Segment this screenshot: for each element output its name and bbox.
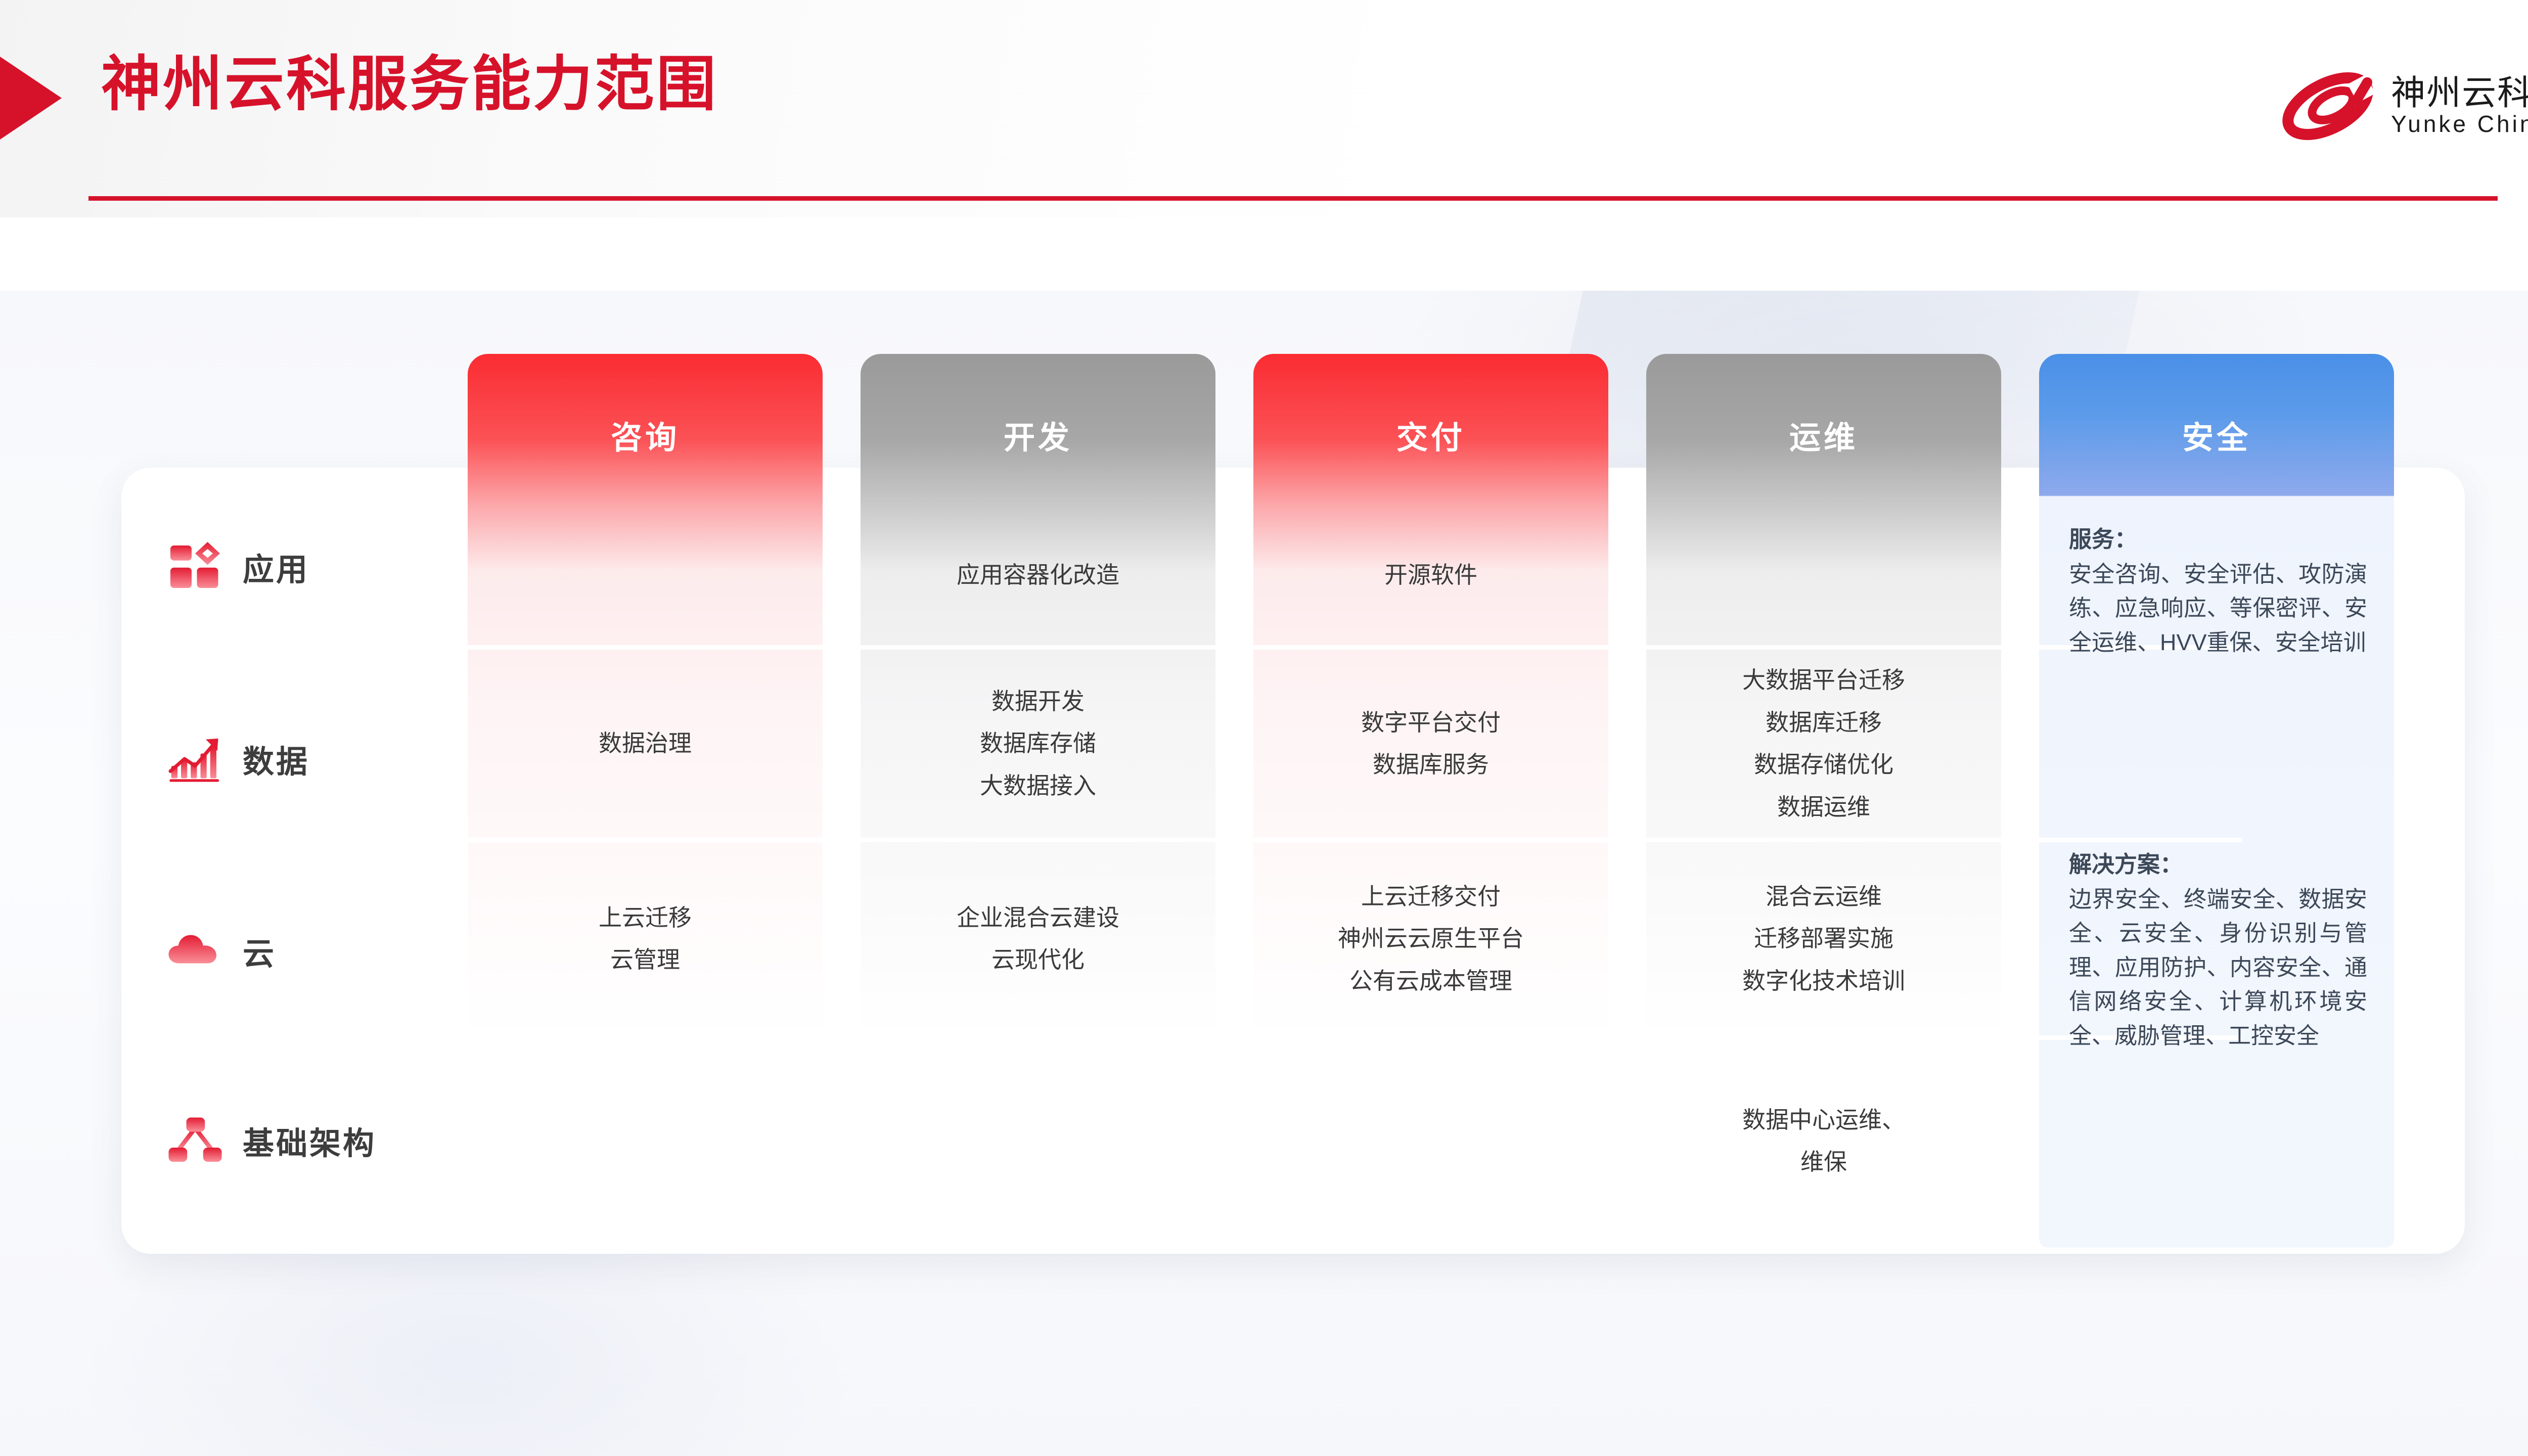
cell-line: 数字化技术培训 [1742,967,1905,996]
security-solution-title: 解决方案： [2069,849,2367,880]
cell-line: 上云迁移交付 [1361,882,1501,912]
security-service-title: 服务： [2069,524,2367,555]
cell-line: 企业混合云建设 [957,903,1119,933]
cell-line: 大数据平台迁移 [1742,666,1905,695]
logo-chinese-name: 神州云科 [2391,75,2528,111]
triangle-right-icon [0,57,62,140]
cell-line: 数字平台交付 [1361,708,1501,738]
cell-line: 大数据接入 [980,771,1096,801]
cell-line: 公有云成本管理 [1349,967,1512,996]
cell-application-operations [1646,506,2001,645]
security-solution-body: 边界安全、终端安全、数据安全、云安全、身份识别与管理、应用防护、内容安全、通信网… [2069,882,2367,1053]
cell-line: 云管理 [610,945,680,975]
cell-line: 数据运维 [1777,793,1870,822]
column-header-consulting[interactable]: 咨询 [468,377,823,493]
row-label-text: 云 [243,928,276,974]
cell-cloud-operations: 混合云运维 迁移部署实施 数字化技术培训 [1646,842,2001,1035]
cell-line: 数据库服务 [1373,750,1489,780]
cell-cloud-delivery: 上云迁移交付 神州云云原生平台 公有云成本管理 [1253,842,1608,1035]
cell-application-consulting [468,506,823,645]
row-divider-1 [468,645,2242,650]
cell-data-operations: 大数据平台迁移 数据库迁移 数据存储优化 数据运维 [1646,650,2001,838]
swirl-logo-icon [2280,68,2376,144]
cell-line: 混合云运维 [1766,882,1882,912]
cloud-icon [167,923,223,979]
cell-application-development: 应用容器化改造 [861,506,1215,645]
cell-line: 维保 [1800,1148,1847,1177]
cell-line: 数据库存储 [980,729,1096,758]
cell-line: 云现代化 [991,945,1085,975]
cell-line: 数据库迁移 [1766,708,1882,738]
cell-infrastructure-delivery [1253,1040,1608,1242]
cell-data-consulting: 数据治理 [468,650,823,838]
row-label-data[interactable]: 数据 [167,731,309,787]
row-label-application[interactable]: 应用 [167,538,309,595]
row-divider-2 [468,838,2242,842]
cell-line: 数据存储优化 [1754,750,1893,780]
cell-data-delivery: 数字平台交付 数据库服务 [1253,650,1608,838]
row-label-cloud[interactable]: 云 [167,923,276,979]
row-label-text: 基础架构 [243,1118,376,1163]
cell-infrastructure-consulting [468,1040,823,1242]
brand-logo: 神州云科 Yunke China [2280,68,2528,144]
cell-line: 神州云云原生平台 [1338,924,1524,953]
row-label-text: 应用 [243,544,309,589]
column-header-delivery[interactable]: 交付 [1253,377,1608,493]
cell-infrastructure-development [861,1040,1215,1242]
cell-cloud-development: 企业混合云建设 云现代化 [861,842,1215,1035]
cell-infrastructure-operations: 数据中心运维、 维保 [1646,1040,2001,1242]
page-header: 神州云科服务能力范围 神州云科 Yunke China [0,0,2528,217]
cell-line: 开源软件 [1384,561,1477,590]
bar-chart-growth-icon [167,731,223,787]
row-label-infrastructure[interactable]: 基础架构 [167,1112,376,1169]
cell-line: 应用容器化改造 [957,561,1119,590]
security-solution-block: 解决方案： 边界安全、终端安全、数据安全、云安全、身份识别与管理、应用防护、内容… [2069,849,2367,1053]
cell-line: 数据开发 [991,687,1085,716]
security-service-body: 安全咨询、安全评估、攻防演练、应急响应、等保密评、安全运维、HVV重保、安全培训 [2069,557,2367,660]
cell-cloud-consulting: 上云迁移 云管理 [468,842,823,1035]
title-underline-rule [88,196,2498,201]
column-header-security[interactable]: 安全 [2039,377,2394,493]
logo-english-name: Yunke China [2391,111,2528,137]
row-label-text: 数据 [243,736,309,782]
page-title: 神州云科服务能力范围 [101,55,718,114]
cell-line: 上云迁移 [599,903,692,933]
apps-blocks-icon [167,538,223,595]
cell-data-development: 数据开发 数据库存储 大数据接入 [861,650,1215,838]
cell-line: 数据治理 [599,729,692,758]
cell-line: 迁移部署实施 [1754,924,1893,953]
column-header-development[interactable]: 开发 [861,377,1215,493]
cell-application-delivery: 开源软件 [1253,506,1608,645]
cell-line: 数据中心运维、 [1742,1106,1905,1135]
security-service-block: 服务： 安全咨询、安全评估、攻防演练、应急响应、等保密评、安全运维、HVV重保、… [2069,524,2367,659]
column-header-operations[interactable]: 运维 [1646,377,2001,493]
network-nodes-icon [167,1112,223,1169]
row-divider-3 [468,1035,2242,1040]
